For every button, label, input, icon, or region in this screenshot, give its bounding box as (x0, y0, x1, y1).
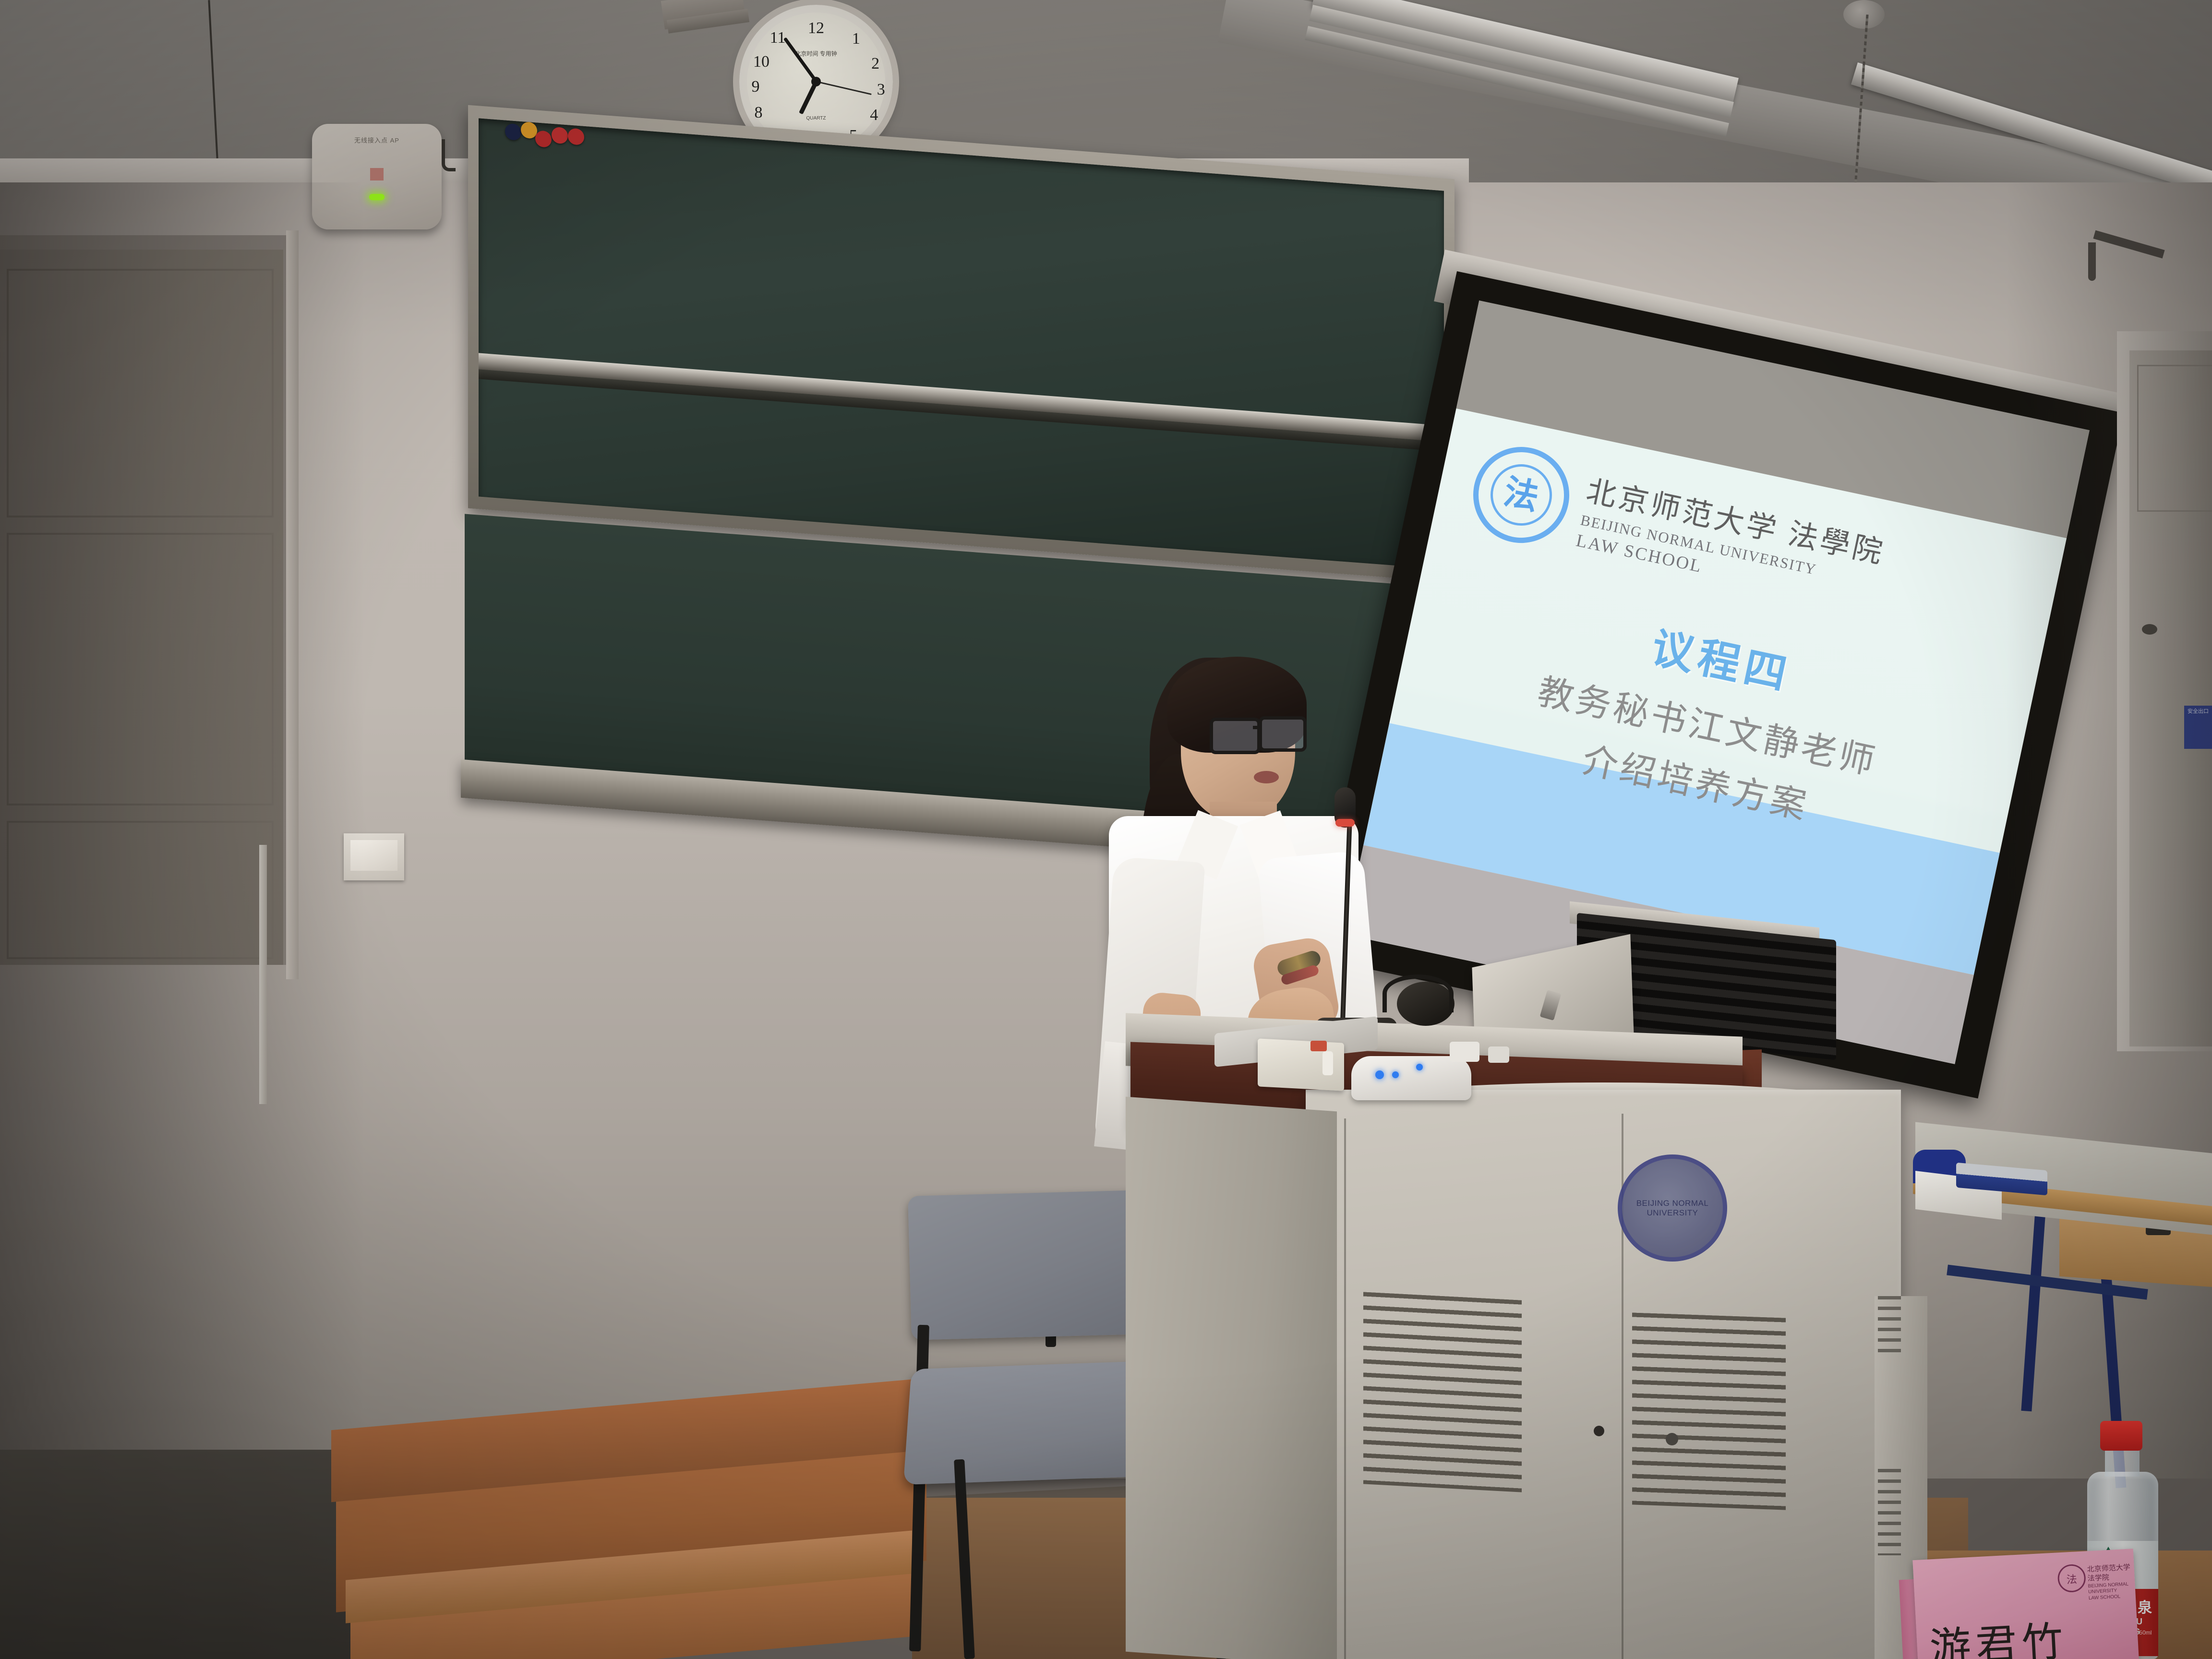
university-emblem-label: BEIJING NORMAL UNIVERSITY (1622, 1199, 1723, 1217)
clock-numeral: 3 (871, 81, 890, 99)
blackboard-divider-shadow (479, 369, 1444, 451)
wall-shadow (0, 182, 365, 1479)
small-red-object[interactable] (1310, 1041, 1327, 1051)
status-led-icon (1375, 1070, 1384, 1079)
floor (0, 1450, 365, 1659)
name-card-name: 游君竹 (1928, 1608, 2069, 1659)
name-card: 法 北京师范大学 法学院 BEIJING NORMAL UNIVERSITY L… (1912, 1549, 2139, 1659)
eyeglasses-icon (1259, 716, 1307, 752)
seal-inner-ring: 法 (1485, 458, 1558, 531)
magnet-red-2 (552, 127, 568, 144)
wireless-receiver[interactable] (1351, 1056, 1471, 1100)
clock-minute-hand (783, 37, 817, 83)
ceiling-anchor (1843, 0, 1885, 29)
eyeglasses-icon (1210, 718, 1261, 754)
adapter-plug[interactable] (1488, 1046, 1509, 1063)
podium-vent (1363, 1292, 1522, 1492)
status-led-icon (1416, 1064, 1423, 1070)
name-card-seal-glyph: 法 (2059, 1571, 2085, 1587)
cabinet-vent (1878, 1469, 1901, 1555)
name-card-org-line-1: 北京师范大学 法学院 (2087, 1563, 2135, 1584)
magnet-navy (505, 123, 521, 141)
clock-numeral: 8 (749, 104, 768, 122)
magnet-red-1 (535, 130, 552, 148)
clock-numeral: 1 (846, 30, 866, 48)
chair-backrest[interactable] (908, 1190, 1161, 1340)
seal-glyph: 法 (1501, 474, 1541, 515)
podium-side-panel (1126, 1097, 1337, 1659)
cabinet-vent (1878, 1296, 1901, 1354)
clock-numeral: 2 (866, 55, 885, 73)
clock-second-hand (816, 81, 872, 95)
clock-numeral: 9 (746, 78, 765, 96)
microphone-status-ring (1335, 819, 1355, 827)
adapter-plug[interactable] (1450, 1042, 1479, 1062)
name-card-org: 北京师范大学 法学院 BEIJING NORMAL UNIVERSITY LAW… (2087, 1563, 2136, 1601)
clock-numeral: 4 (865, 106, 884, 124)
blackboard (468, 105, 1455, 583)
cable (1382, 974, 1454, 1012)
classroom-photo: 无线接入点 AP 北京时间 专用钟 QUARTZ 12 1 2 3 4 5 6 … (0, 0, 2212, 1659)
pen[interactable] (1322, 1051, 1333, 1075)
podium-vent (1632, 1312, 1786, 1510)
clock-numeral: 12 (806, 19, 826, 37)
podium-door-seam (1344, 1118, 1346, 1659)
status-led-icon (369, 194, 385, 200)
water-bottle-cap[interactable] (2100, 1421, 2142, 1451)
clock-numeral: 10 (752, 53, 771, 71)
clock-center-pin (811, 77, 821, 86)
university-emblem-icon: BEIJING NORMAL UNIVERSITY (1618, 1154, 1727, 1262)
podium-keyhole[interactable] (1594, 1426, 1604, 1436)
eyeglasses-bridge (1253, 726, 1262, 729)
magnet-amber (521, 121, 537, 139)
cable-hook (442, 139, 456, 171)
wifi-access-point-label: 无线接入点 AP (312, 135, 442, 144)
speaker-mouth (1254, 771, 1279, 783)
water-bottle-neck (2105, 1448, 2140, 1477)
blackboard-surface (479, 118, 1444, 569)
podium-lock-button[interactable] (1666, 1433, 1678, 1445)
wifi-access-point-sticker (370, 168, 384, 180)
status-led-icon (1392, 1071, 1399, 1078)
blackboard-divider-rail (479, 353, 1444, 442)
magnet-red-3 (568, 128, 584, 145)
name-card-seal-icon: 法 (2057, 1563, 2086, 1593)
law-school-seal-icon: 法 (1464, 438, 1578, 552)
